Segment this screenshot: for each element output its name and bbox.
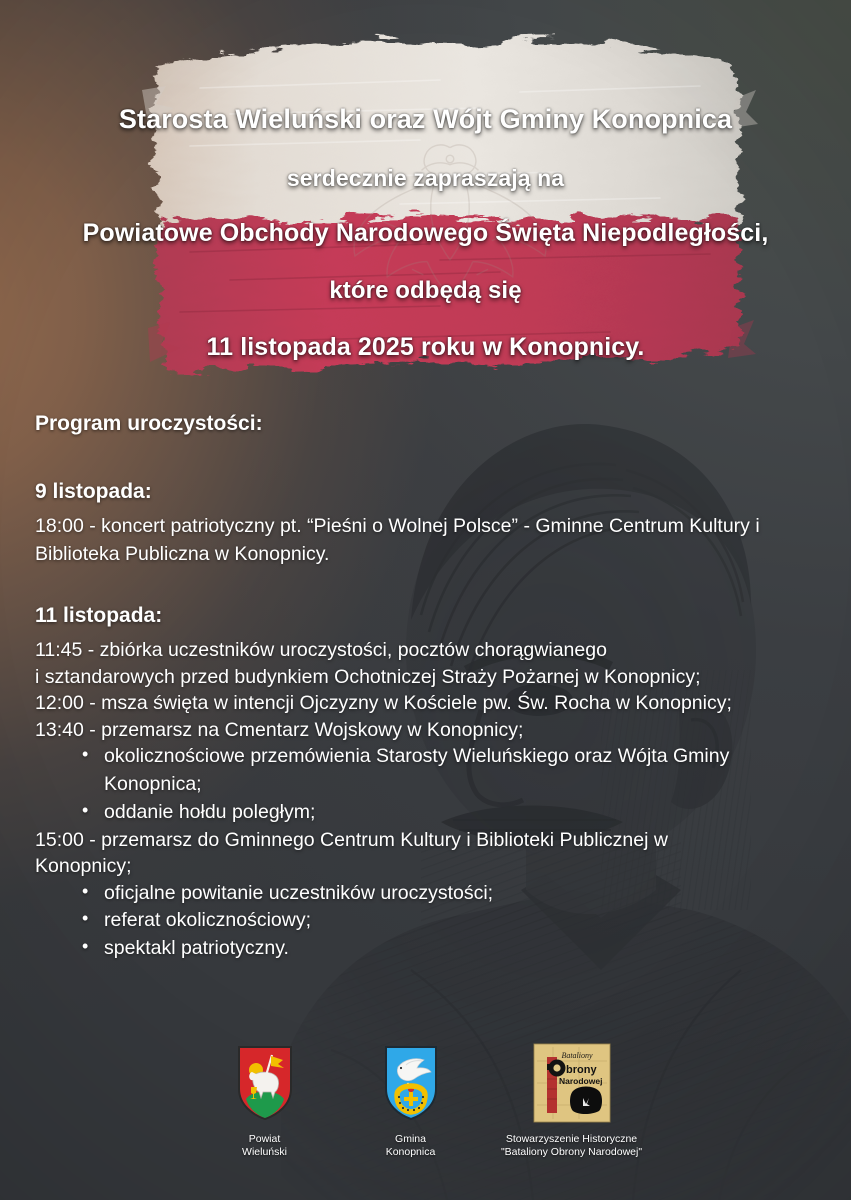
culture-centre-bullet-list: oficjalne powitanie uczestników uroczyst…	[35, 880, 825, 963]
logo-gmina-konopnica: Gmina Konopnica	[351, 1040, 471, 1160]
spacer	[35, 568, 825, 604]
spacer	[35, 436, 825, 480]
svg-text:Bataliony: Bataliony	[561, 1051, 593, 1060]
headline-line-3: Powiatowe Obchody Narodowego Święta Niep…	[0, 219, 851, 249]
logo-stowarzyszenie-bon: Bataliony brony Narodowej Stowarzyszenie…	[497, 1040, 647, 1160]
poster-root: Starosta Wieluński oraz Wójt Gminy Konop…	[0, 0, 851, 1200]
headline-line-4: które odbędą się	[0, 277, 851, 305]
list-item: oddanie hołdu poległym;	[82, 799, 825, 827]
day-9-november-item-1: 18:00 - koncert patriotyczny pt. “Pieśni…	[35, 513, 770, 568]
spacer	[35, 628, 825, 637]
logo-bataliony-obrony-narodowej-icon: Bataliony brony Narodowej	[533, 1040, 611, 1126]
day-11-item-1340: 13:40 - przemarsz na Cmentarz Wojskowy w…	[35, 717, 825, 744]
day-11-item-1200: 12:00 - msza święta w intencji Ojczyzny …	[35, 690, 825, 717]
headline-block: Starosta Wieluński oraz Wójt Gminy Konop…	[0, 104, 851, 362]
svg-text:Narodowej: Narodowej	[559, 1076, 602, 1086]
day-11-item-1145-b: i sztandarowych przed budynkiem Ochotnic…	[35, 664, 825, 691]
headline-line-2: serdecznie zapraszają na	[0, 165, 851, 192]
headline-line-5: 11 listopada 2025 roku w Konopnicy.	[0, 333, 851, 363]
list-item: spektakl patriotyczny.	[82, 935, 825, 963]
herb-powiatu-wielunskiego-icon	[237, 1040, 293, 1126]
logo-caption: Stowarzyszenie Historyczne "Bataliony Ob…	[501, 1133, 642, 1160]
list-item: okolicznościowe przemówienia Starosty Wi…	[82, 743, 824, 798]
logo-caption: Powiat Wieluński	[242, 1133, 287, 1160]
day-9-november-title: 9 listopada:	[35, 480, 825, 504]
logo-caption: Gmina Konopnica	[386, 1133, 436, 1160]
day-11-item-1500: 15:00 - przemarsz do Gminnego Centrum Ku…	[35, 827, 765, 880]
spacer	[35, 504, 825, 513]
day-11-item-1145-a: 11:45 - zbiórka uczestników uroczystości…	[35, 637, 825, 664]
list-item: referat okolicznościowy;	[82, 907, 825, 935]
logo-powiat-wielunski: Powiat Wieluński	[205, 1040, 325, 1160]
svg-text:brony: brony	[566, 1064, 597, 1076]
herb-gminy-konopnica-icon	[384, 1040, 438, 1126]
day-11-november-title: 11 listopada:	[35, 604, 825, 628]
cemetery-bullet-list: okolicznościowe przemówienia Starosty Wi…	[35, 743, 825, 826]
programme-block: Program uroczystości: 9 listopada: 18:00…	[35, 412, 825, 963]
logos-row: Powiat Wieluński	[0, 1040, 851, 1160]
headline-line-1: Starosta Wieluński oraz Wójt Gminy Konop…	[0, 104, 851, 136]
list-item: oficjalne powitanie uczestników uroczyst…	[82, 880, 825, 908]
programme-title: Program uroczystości:	[35, 412, 825, 436]
